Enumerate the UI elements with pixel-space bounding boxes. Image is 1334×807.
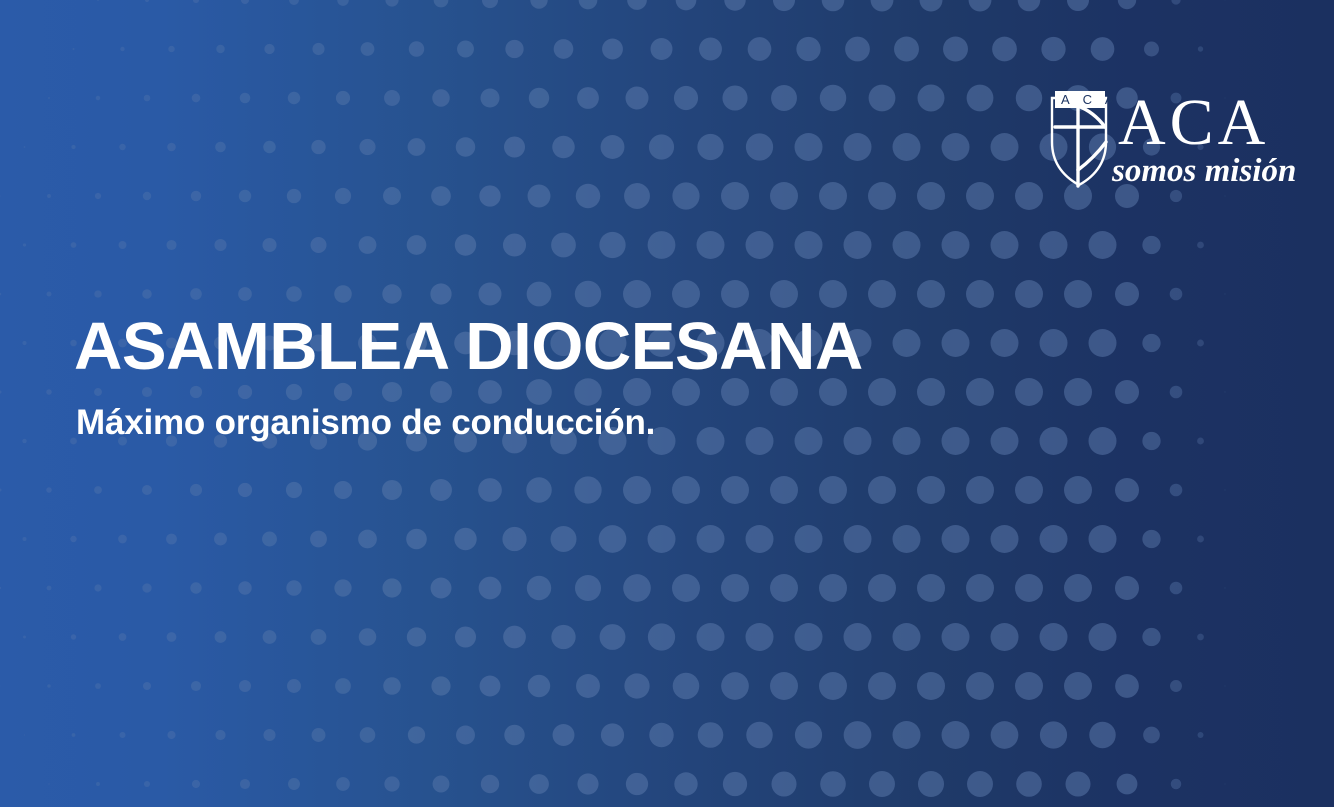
logo-wordmark: ACA bbox=[1118, 86, 1269, 159]
emblem-label-text: A C A bbox=[1061, 92, 1119, 107]
page-subtitle: Máximo organismo de conducción. bbox=[76, 404, 863, 443]
cross-icon bbox=[1055, 106, 1106, 186]
logo-tagline: somos misión bbox=[1111, 153, 1296, 189]
slide-canvas: ASAMBLEA DIOCESANA Máximo organismo de c… bbox=[0, 0, 1334, 807]
page-title: ASAMBLEA DIOCESANA bbox=[74, 312, 863, 382]
aca-logo: A C A ACA somos misión bbox=[1042, 82, 1310, 190]
headline-block: ASAMBLEA DIOCESANA Máximo organismo de c… bbox=[74, 312, 863, 443]
